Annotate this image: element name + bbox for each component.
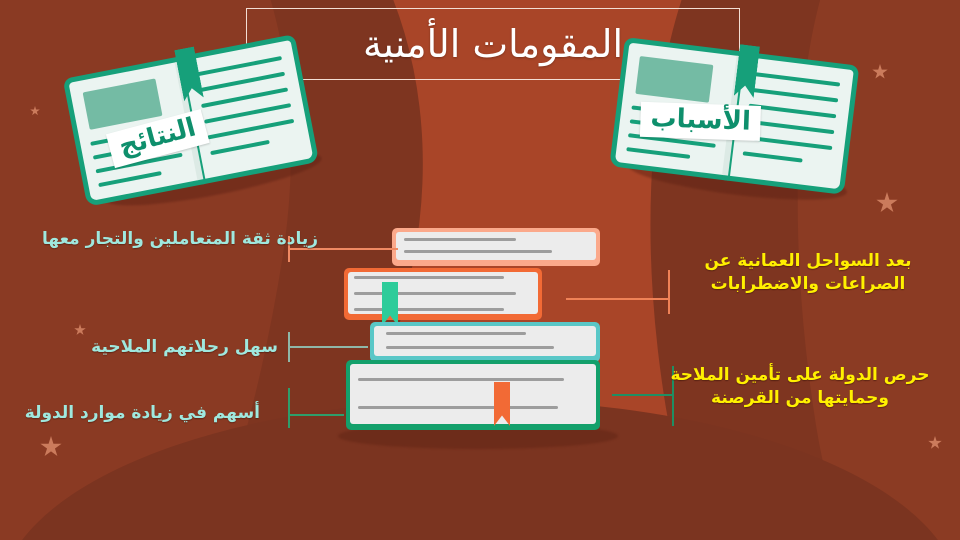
stack-book-pages: [350, 364, 596, 424]
result-item-2-label: سهل رحلاتهم الملاحية: [91, 336, 278, 359]
page-image-block: [635, 56, 713, 103]
connector-causes-1: [566, 270, 670, 314]
stack-book-pages: [348, 272, 538, 314]
bookmark-ribbon-icon: [382, 282, 398, 326]
stack-book-green: [346, 360, 600, 430]
stack-book-orange: [344, 268, 542, 320]
page-title: المقومات الأمنية: [363, 22, 623, 66]
cause-item-2-label: حرص الدولة على تأمين الملاحة وحمايتها من…: [650, 364, 950, 410]
cause-item-2-line-2: وحمايتها من القرصنة: [650, 387, 950, 410]
connector-results-2: [288, 332, 368, 362]
cause-item-2-line-1: حرص الدولة على تأمين الملاحة: [650, 364, 950, 387]
open-book-causes: الأسباب: [610, 38, 859, 215]
slide-canvas: المقومات الأمنية النتائج: [0, 0, 960, 540]
result-item-1-label: زيادة ثقة المتعاملين والتجار معها: [42, 228, 318, 251]
book-label-causes: الأسباب: [640, 102, 761, 141]
stack-book-pages: [396, 232, 596, 260]
cause-item-1-line-1: بعد السواحل العمانية عن: [668, 250, 948, 273]
stack-book-pages: [374, 326, 596, 356]
cause-item-1-label: بعد السواحل العمانية عن الصراعات والاضطر…: [668, 250, 948, 296]
book-page-right: [182, 40, 313, 179]
result-item-3-label: أسهم في زيادة موارد الدولة: [25, 402, 260, 425]
connector-results-3: [288, 388, 344, 428]
stack-book-salmon: [392, 228, 600, 266]
stack-book-cyan: [370, 322, 600, 362]
cause-item-1-line-2: الصراعات والاضطرابات: [668, 273, 948, 296]
